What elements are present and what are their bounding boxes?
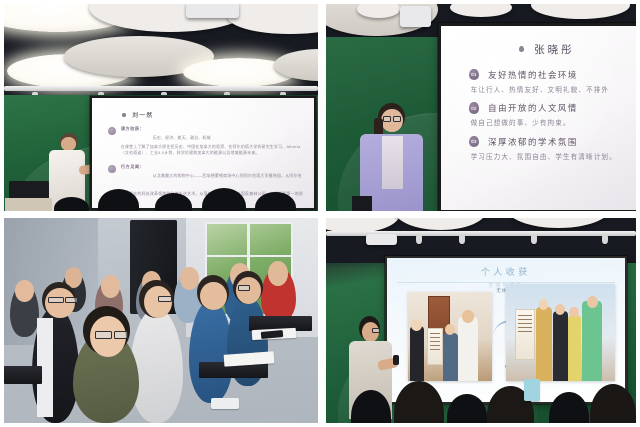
bullet-dot-icon bbox=[122, 113, 126, 118]
slide-item: 03 深厚浓郁的学术氛围 学习压力大、氛围自由、学生有清晰计划。 bbox=[465, 136, 630, 163]
projector-mount-icon bbox=[400, 6, 431, 27]
slide-photo-indoor bbox=[408, 292, 491, 381]
projection-screen: 张晓彤 01 友好热情的社会环境 车让行人、热情友好、文明礼貌、不排外 02 自… bbox=[438, 23, 636, 211]
item-number-badge: 01 bbox=[469, 69, 480, 81]
student-glasses bbox=[95, 331, 112, 339]
photo-person-head bbox=[555, 304, 565, 315]
scroll-strokes bbox=[518, 315, 532, 316]
slide-zhang-xiaotong: 张晓彤 01 友好热情的社会环境 车让行人、热情友好、文明礼貌、不排外 02 自… bbox=[441, 26, 636, 210]
audience-head bbox=[351, 390, 391, 423]
audience-silhouettes bbox=[4, 174, 318, 211]
photo-person-head bbox=[587, 296, 598, 308]
row-label: 行方见闻： bbox=[121, 164, 144, 170]
item-heading: 友好热情的社会环境 bbox=[488, 69, 578, 81]
slide-row-text: 课方收获： 历史、经济、航天、政治、机械 在课堂上了解了加拿大原住民历史、中国在… bbox=[121, 126, 305, 156]
presenter-clicker bbox=[393, 355, 399, 364]
audience-head bbox=[447, 394, 487, 423]
student-glasses bbox=[114, 331, 128, 339]
student-face bbox=[268, 261, 288, 286]
audience-head bbox=[549, 392, 589, 423]
panel-top-right: 张晓彤 01 友好热情的社会环境 车让行人、热情友好、文明礼貌、不排外 02 自… bbox=[326, 4, 636, 211]
slide-item-head: 02 自由开放的人文风情 bbox=[465, 102, 630, 114]
classroom-interior bbox=[4, 218, 318, 423]
panel-bottom-left bbox=[4, 218, 318, 423]
slide-title: 刘一然 bbox=[132, 111, 153, 119]
item-heading: 深厚浓郁的学术氛围 bbox=[488, 136, 578, 148]
audience-head bbox=[590, 384, 637, 423]
presenter-face bbox=[61, 137, 76, 150]
slide-item-head: 03 深厚浓郁的学术氛围 bbox=[465, 136, 630, 148]
photo-person-head bbox=[462, 310, 474, 322]
presenter-glasses bbox=[372, 328, 380, 333]
presenter-glasses bbox=[383, 116, 391, 121]
item-subtext: 车让行人、热情友好、文明礼貌、不排外 bbox=[471, 86, 630, 96]
projector-mount-icon bbox=[366, 234, 397, 245]
student-figure bbox=[130, 308, 183, 423]
desk bbox=[4, 366, 42, 384]
photo-person-head bbox=[445, 324, 455, 335]
photo-person-head bbox=[569, 307, 578, 317]
ceiling-lamp-disc bbox=[227, 4, 318, 34]
ceiling-lamp-disc bbox=[394, 218, 487, 230]
row-badge-icon bbox=[108, 165, 116, 173]
audience-silhouettes bbox=[326, 370, 636, 423]
audience-head bbox=[202, 188, 246, 211]
audience-head bbox=[155, 193, 193, 211]
presenter-female bbox=[354, 103, 435, 211]
audience-head bbox=[394, 381, 444, 423]
student-glasses bbox=[238, 285, 251, 291]
student-face bbox=[180, 267, 199, 290]
audience-head bbox=[54, 197, 89, 211]
photo-person-head bbox=[411, 319, 422, 331]
water-bottle bbox=[524, 379, 540, 400]
student-face bbox=[45, 288, 75, 319]
audience-head bbox=[255, 192, 296, 211]
student-glasses bbox=[48, 297, 64, 304]
ceiling-lamp-disc bbox=[506, 218, 611, 228]
projector-mount-icon bbox=[186, 4, 239, 18]
student-face bbox=[200, 282, 227, 311]
lighting-rail bbox=[4, 86, 318, 91]
photo-collage: 刘一然 课方收获： 历史、经济、航天、政治、机械 在课堂上了解了加拿大原住民历史… bbox=[0, 0, 640, 427]
slide-title: 张晓彤 bbox=[534, 42, 575, 57]
slide-item-head: 01 友好热情的社会环境 bbox=[465, 69, 630, 81]
spotlight-icon bbox=[459, 235, 465, 244]
student-glasses bbox=[158, 296, 172, 303]
student-face bbox=[144, 286, 172, 319]
item-subtext: 学习压力大、氛围自由、学生有清晰计划。 bbox=[471, 153, 630, 163]
student-face bbox=[15, 280, 34, 303]
item-subtext: 做自己想做的事、少有拘束。 bbox=[471, 119, 630, 129]
student-face bbox=[101, 275, 120, 298]
item-number-badge: 03 bbox=[469, 136, 480, 148]
slide-row: 课方收获： 历史、经济、航天、政治、机械 在课堂上了解了加拿大原住民历史、中国在… bbox=[108, 126, 304, 156]
row-body: 历史、经济、航天、政治、机械 bbox=[153, 135, 211, 140]
row-body-2: 在课堂上了解了加拿大原住民历史、中国在加拿大的投资、在阿尔伯塔大学的研究生学习、… bbox=[121, 144, 305, 156]
slide-title-row: 张晓彤 bbox=[465, 42, 630, 57]
row-badge-icon bbox=[108, 127, 116, 135]
lectern-edge bbox=[352, 196, 371, 211]
presenter-inner-top bbox=[382, 136, 403, 190]
spotlight-icon bbox=[531, 235, 537, 244]
item-heading: 自由开放的人文风情 bbox=[488, 102, 578, 114]
panel-top-left: 刘一然 课方收获： 历史、经济、航天、政治、机械 在课堂上了解了加拿大原住民历史… bbox=[4, 4, 318, 211]
slide-item: 02 自由开放的人文风情 做自己想做的事、少有拘束。 bbox=[465, 102, 630, 129]
slide-photo-outdoor bbox=[506, 284, 615, 382]
slide-item: 01 友好热情的社会环境 车让行人、热情友好、文明礼貌、不排外 bbox=[465, 69, 630, 96]
slide-title-row: 刘一然 bbox=[122, 111, 304, 119]
student-glasses bbox=[65, 297, 78, 304]
spotlight-icon bbox=[416, 235, 422, 244]
scroll-strokes bbox=[430, 333, 441, 334]
ceiling-lamp-disc bbox=[450, 4, 512, 17]
ceiling-lamp-disc bbox=[531, 4, 630, 19]
spotlight-icon bbox=[602, 235, 608, 244]
smartphone-held bbox=[211, 398, 239, 408]
presenter-glasses bbox=[393, 116, 401, 121]
slide-title: 个人收获 bbox=[387, 258, 625, 278]
row-label: 课方收获： bbox=[121, 126, 144, 132]
bullet-dot-icon bbox=[519, 46, 524, 52]
audience-head bbox=[98, 189, 139, 211]
item-number-badge: 02 bbox=[469, 102, 480, 114]
panel-bottom-right: 个人收获 交流与体验 无体验 bbox=[326, 218, 636, 423]
